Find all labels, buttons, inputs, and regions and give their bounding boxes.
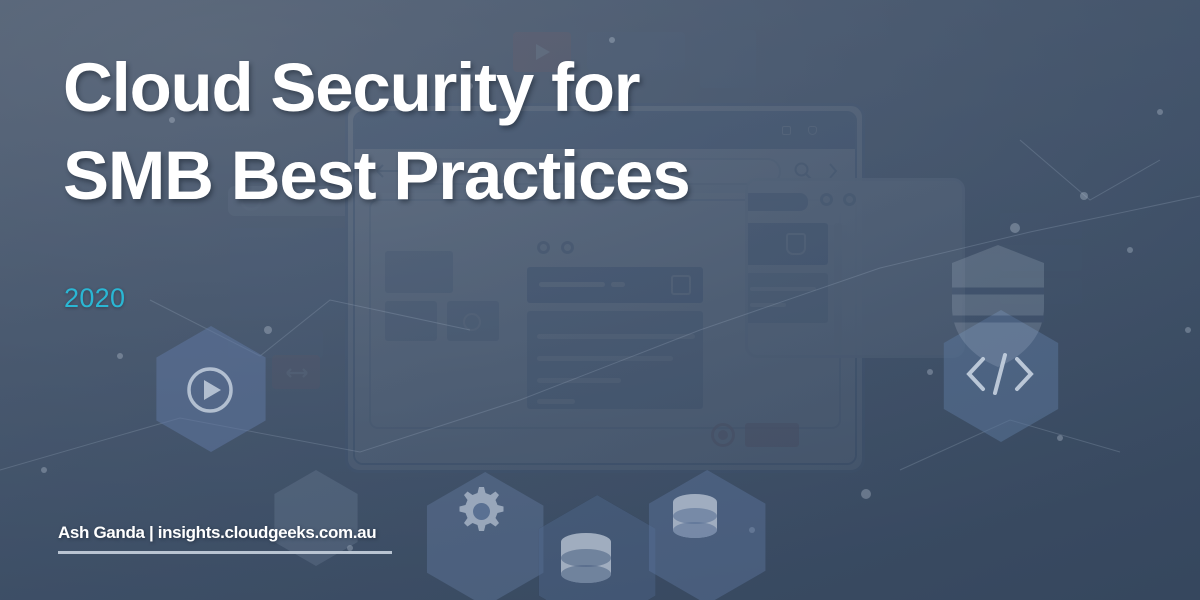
slide-content: Cloud Security for SMB Best Practices 20… [0,0,1200,600]
year-label: 2020 [64,283,125,314]
slide-canvas: Cloud Security for SMB Best Practices 20… [0,0,1200,600]
title-line-1: Cloud Security for [63,44,823,132]
page-title: Cloud Security for SMB Best Practices [63,44,823,221]
footer-text: Ash Ganda | insights.cloudgeeks.com.au [58,523,392,543]
footer-attribution: Ash Ganda | insights.cloudgeeks.com.au [58,523,392,554]
title-line-2: SMB Best Practices [63,132,823,220]
